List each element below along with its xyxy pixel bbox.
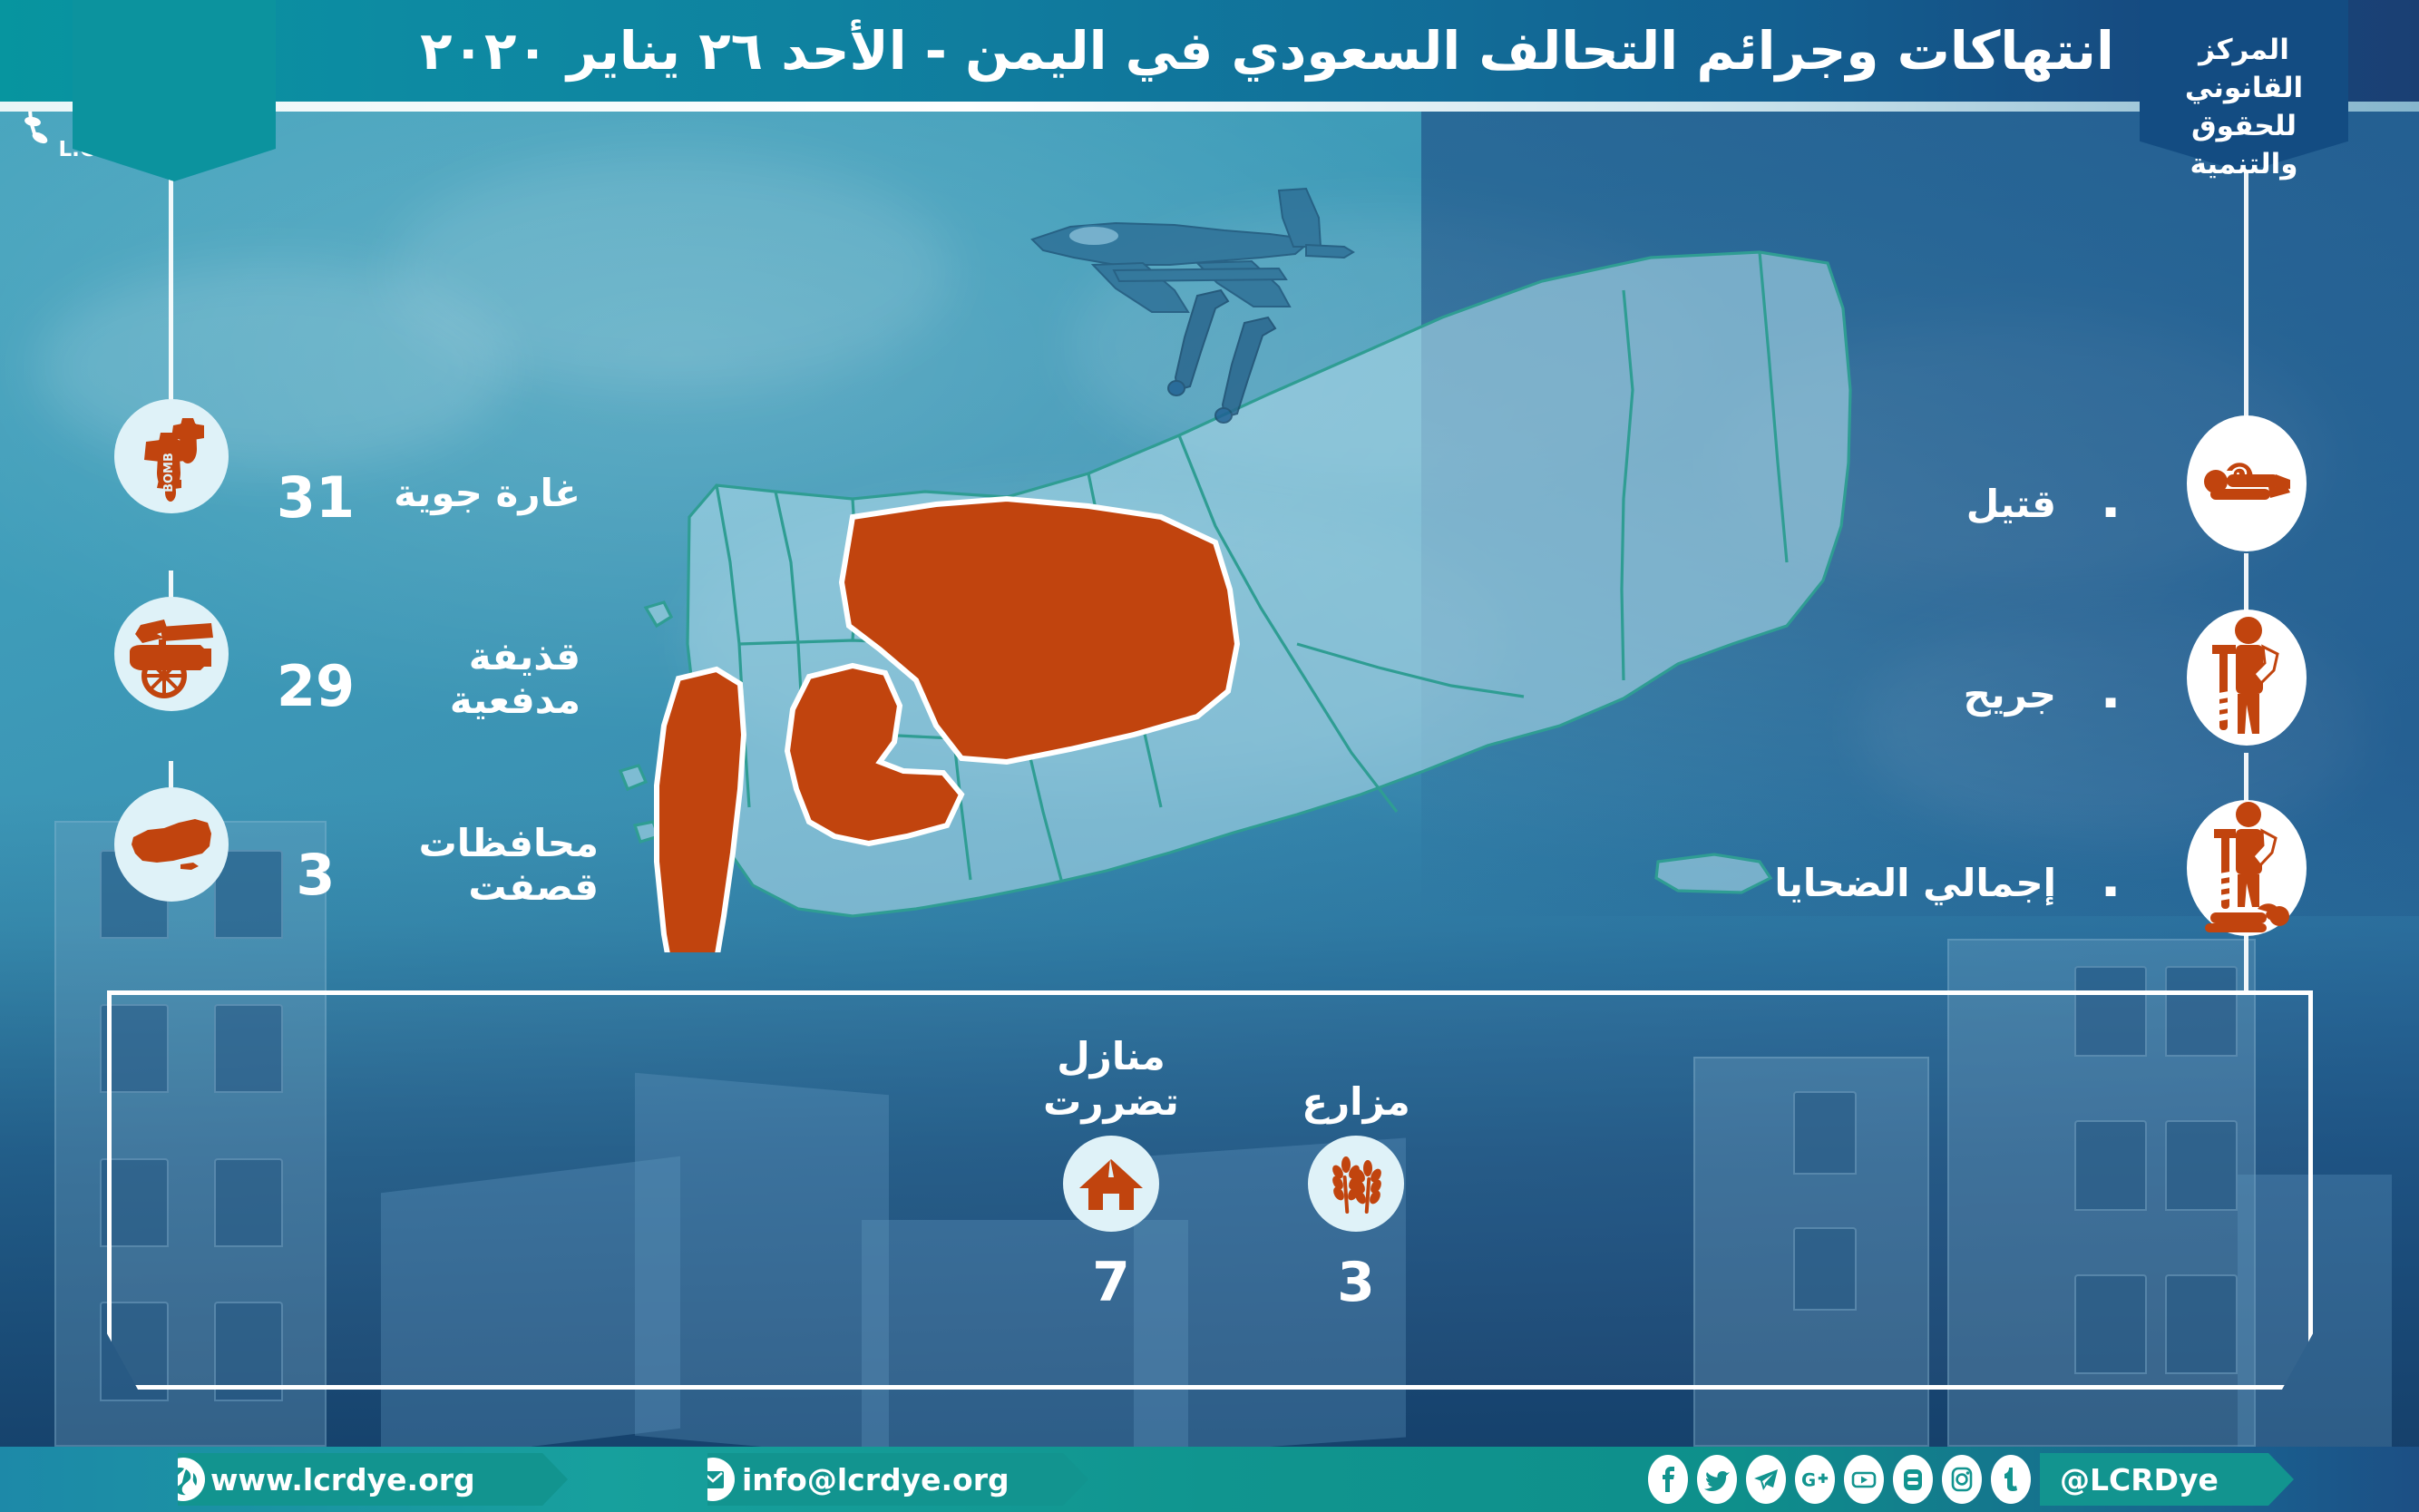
panel-item-homes: منازل تضررت 7	[1007, 1034, 1215, 1310]
email-chip[interactable]: info@lcrdye.org	[707, 1453, 1088, 1506]
stat-label-artillery-line2: مدفعية	[363, 678, 580, 722]
tumblr-icon[interactable]	[1991, 1455, 2031, 1504]
website-text: www.lcrdye.org	[210, 1462, 475, 1497]
panel-label-farms: مزارع	[1261, 1079, 1451, 1125]
stat-label-wounded: جريح	[1784, 673, 2056, 717]
panel-item-farms: مزارع	[1261, 1079, 1451, 1310]
org-name-line2: للحقوق والتنمية	[2140, 107, 2348, 183]
youtube-icon[interactable]	[1844, 1455, 1884, 1504]
panel-label-homes-line1: منازل	[1007, 1034, 1215, 1079]
bomb-label: BOMB	[162, 453, 176, 493]
fighter-jet-icon	[1007, 163, 1388, 454]
social-bar: G	[1648, 1453, 2294, 1506]
stat-label-artillery-line1: قذيفة	[363, 635, 580, 678]
injured-person-icon	[2187, 610, 2307, 746]
stat-label-provinces-line2: قصفت	[363, 865, 599, 909]
stat-label-air-raids: غارة جوية	[363, 472, 580, 515]
total-casualties-icon	[2187, 800, 2307, 936]
panel-value-farms: 3	[1261, 1255, 1451, 1310]
header-divider	[0, 102, 2419, 112]
stat-stem-right-1	[2244, 172, 2248, 426]
wheat-icon	[1308, 1136, 1404, 1232]
bomb-icon: BOMB	[114, 399, 229, 513]
dead-body-icon	[2187, 415, 2307, 551]
svg-text:G: G	[1801, 1470, 1816, 1491]
stat-label-total-casualties: إجمالي الضحايا	[1675, 862, 2056, 905]
panel-label-homes: منازل تضررت	[1007, 1034, 1215, 1125]
yemen-map-icon	[114, 787, 229, 902]
website-chip[interactable]: www.lcrdye.org	[178, 1453, 568, 1506]
telegram-icon[interactable]	[1746, 1455, 1786, 1504]
twitter-icon[interactable]	[1697, 1455, 1737, 1504]
blogger-icon[interactable]	[1893, 1455, 1933, 1504]
stat-value-provinces: 3	[261, 847, 370, 903]
stat-label-killed: قتيل	[1784, 483, 2056, 526]
panel-label-homes-line2: تضررت	[1007, 1079, 1215, 1125]
panel-value-homes: 7	[1007, 1255, 1215, 1310]
panel-label-farms-line1: مزارع	[1261, 1079, 1451, 1125]
house-icon	[1063, 1136, 1159, 1232]
stat-value-wounded: ٠	[2056, 671, 2165, 727]
instagram-icon[interactable]	[1942, 1455, 1982, 1504]
org-name-line1: المركز القانوني	[2140, 31, 2348, 107]
stat-value-killed: ٠	[2056, 481, 2165, 537]
email-text: info@lcrdye.org	[742, 1462, 1010, 1497]
stat-label-artillery: قذيفة مدفعية	[363, 635, 580, 722]
logo-shield	[73, 0, 276, 181]
infographic-canvas: انتهاكات وجرائم التحالف السعودي في اليمن…	[0, 0, 2419, 1512]
stat-value-air-raids: 31	[261, 470, 370, 526]
page-title: انتهاكات وجرائم التحالف السعودي في اليمن…	[415, 7, 2120, 94]
social-handle-chip[interactable]: @LCRDye	[2040, 1453, 2294, 1506]
map-governorate-3	[657, 669, 744, 952]
stat-label-provinces-line1: محافظات	[363, 822, 599, 865]
cannon-icon	[114, 597, 229, 711]
stat-label-provinces: محافظات قصفت	[363, 822, 599, 909]
stat-value-total-casualties: ٠	[2056, 860, 2165, 916]
stat-value-artillery: 29	[261, 658, 370, 715]
org-name: المركز القانوني للحقوق والتنمية	[2140, 31, 2348, 183]
facebook-icon[interactable]	[1648, 1455, 1688, 1504]
social-handle-text: @LCRDye	[2060, 1462, 2219, 1497]
googleplus-icon[interactable]: G	[1795, 1455, 1835, 1504]
